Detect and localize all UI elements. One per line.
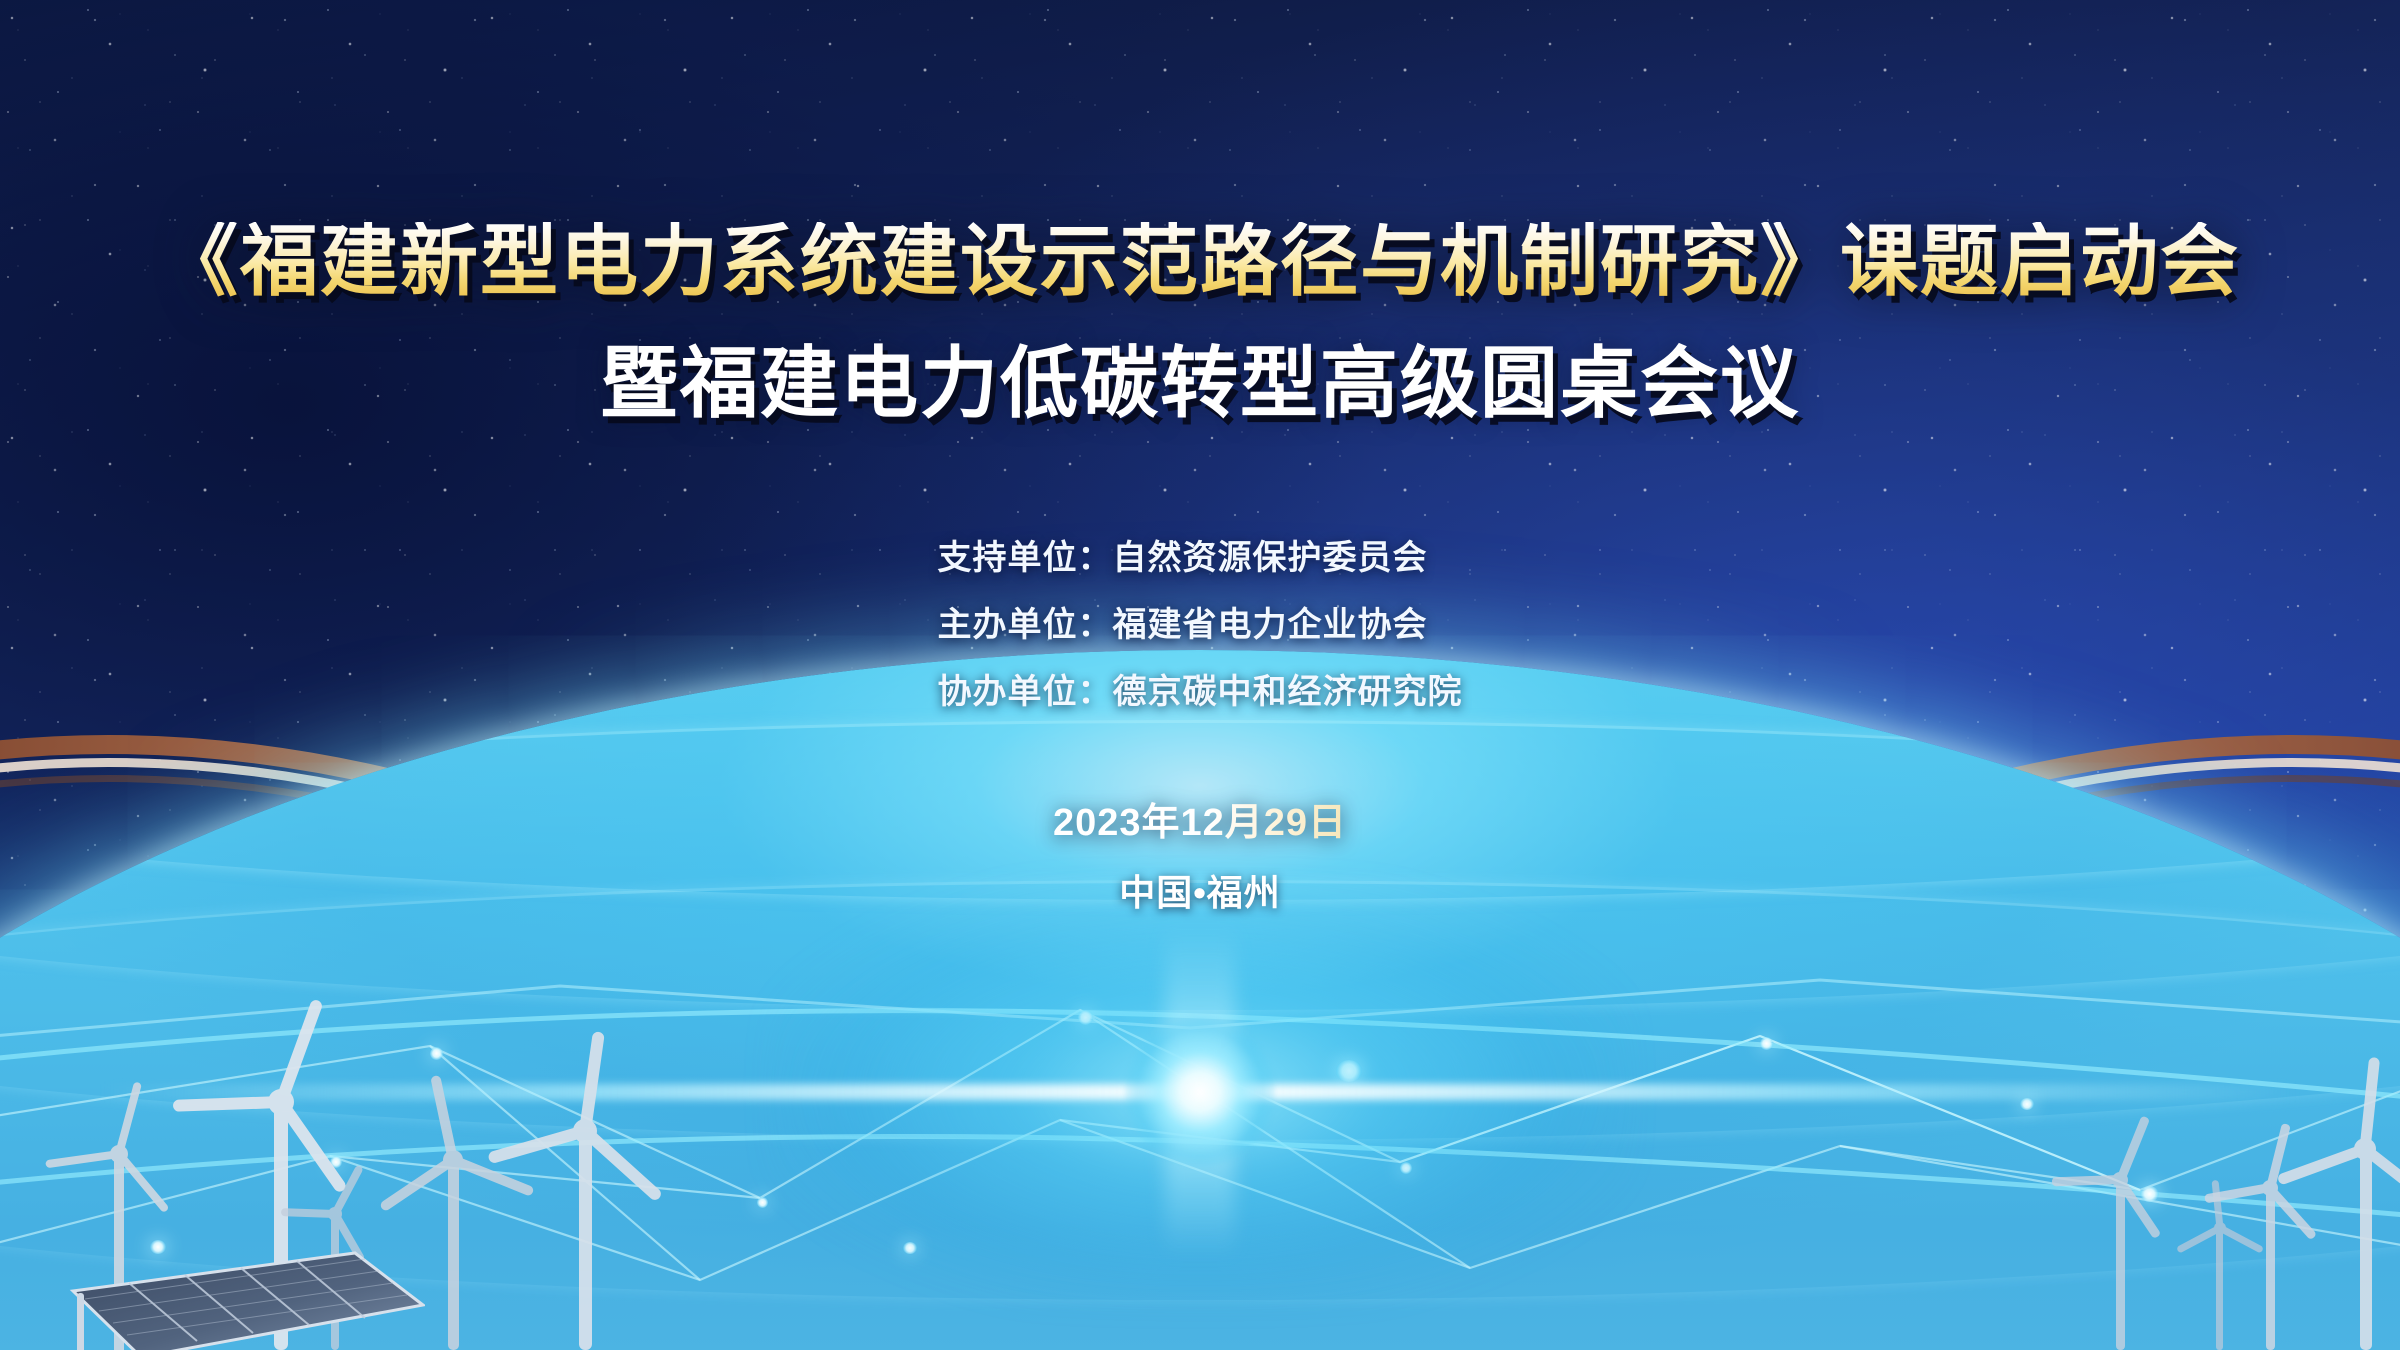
poster-canvas: 《福建新型电力系统建设示范路径与机制研究》课题启动会 暨福建电力低碳转型高级圆桌… <box>0 0 2400 1350</box>
event-date: 2023年12月29日 <box>1053 791 1347 846</box>
event-meta: 2023年12月29日 中国•福州 <box>1053 791 1347 916</box>
organizer-list: 支持单位：自然资源保护委员会 主办单位：福建省电力企业协会 协办单位：德京碳中和… <box>938 530 1463 713</box>
organizer-host: 主办单位：福建省电力企业协会 <box>938 597 1428 646</box>
poster-title-line-2: 暨福建电力低碳转型高级圆桌会议 <box>0 344 2400 422</box>
poster-title-block: 《福建新型电力系统建设示范路径与机制研究》课题启动会 暨福建电力低碳转型高级圆桌… <box>0 0 2400 422</box>
organizer-coorganizer: 协办单位：德京碳中和经济研究院 <box>938 664 1463 713</box>
organizer-support: 支持单位：自然资源保护委员会 <box>938 530 1428 579</box>
poster-content: 《福建新型电力系统建设示范路径与机制研究》课题启动会 暨福建电力低碳转型高级圆桌… <box>0 0 2400 1350</box>
poster-title-line-1: 《福建新型电力系统建设示范路径与机制研究》课题启动会 <box>0 222 2400 300</box>
event-location: 中国•福州 <box>1119 864 1281 916</box>
